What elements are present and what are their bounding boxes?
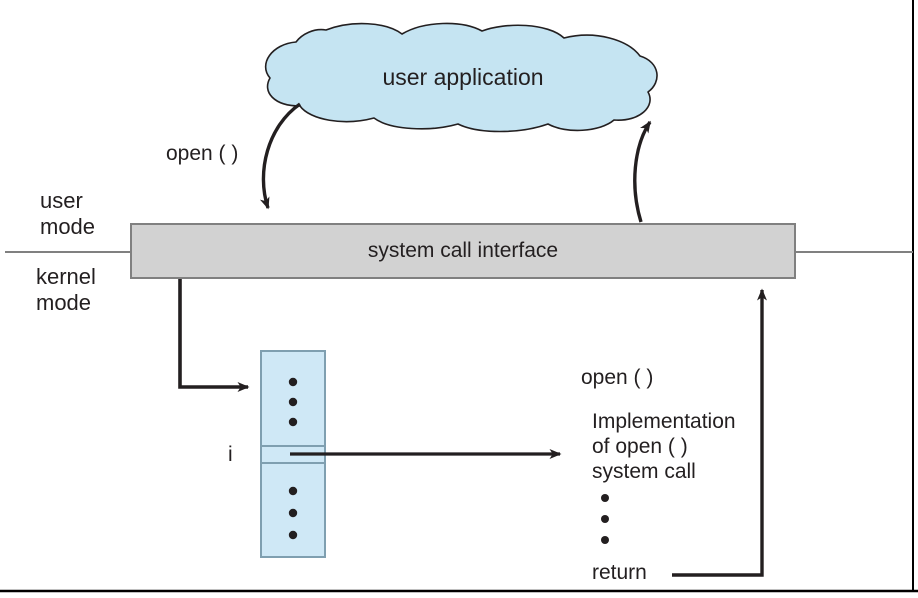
implementation-ellipsis xyxy=(601,494,609,544)
return-label: return xyxy=(592,561,647,586)
syscall-diagram: user mode kernel mode open ( ) system ca… xyxy=(0,0,918,598)
table-index-label: i xyxy=(228,443,233,468)
edge-interface-to-app xyxy=(635,122,650,222)
edge-app-to-interface xyxy=(263,104,300,208)
user-mode-label: user mode xyxy=(40,188,95,240)
system-call-interface-label: system call interface xyxy=(130,239,796,264)
kernel-mode-label: kernel mode xyxy=(36,264,96,316)
implementation-body-text: Implementation of open ( ) system call xyxy=(592,410,736,484)
user-application-label: user application xyxy=(270,64,656,91)
open-call-edge-label: open ( ) xyxy=(166,142,238,167)
edge-interface-to-table xyxy=(180,279,248,387)
open-implementation-heading: open ( ) xyxy=(581,366,653,391)
